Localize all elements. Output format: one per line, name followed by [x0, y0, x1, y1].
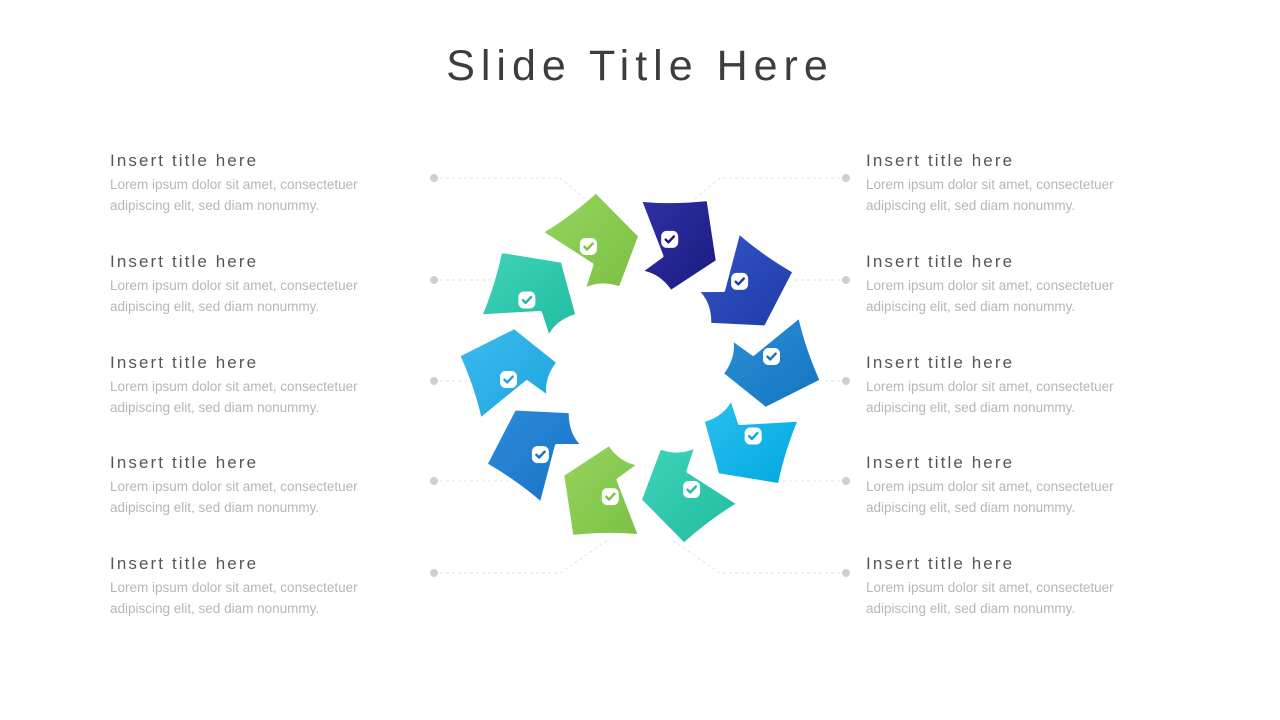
- text-block-right-4: Insert title hereLorem ipsum dolor sit a…: [866, 452, 1166, 518]
- text-block-body: Lorem ipsum dolor sit amet, consectetuer…: [866, 578, 1164, 619]
- connector-dot: [842, 276, 850, 284]
- text-block-title: Insert title here: [110, 553, 410, 574]
- text-block-body: Lorem ipsum dolor sit amet, consectetuer…: [110, 276, 408, 317]
- text-block-left-2: Insert title hereLorem ipsum dolor sit a…: [110, 251, 410, 317]
- text-block-body: Lorem ipsum dolor sit amet, consectetuer…: [866, 276, 1164, 317]
- connector-dot: [430, 477, 438, 485]
- cycle-segment-3[interactable]: [722, 316, 822, 409]
- text-block-right-5: Insert title hereLorem ipsum dolor sit a…: [866, 553, 1166, 619]
- text-block-right-1: Insert title hereLorem ipsum dolor sit a…: [866, 150, 1166, 216]
- text-block-title: Insert title here: [110, 352, 410, 373]
- cycle-segment-8[interactable]: [458, 327, 558, 420]
- text-block-title: Insert title here: [110, 150, 410, 171]
- text-block-title: Insert title here: [110, 452, 410, 473]
- cycle-arrow-shape: [640, 199, 718, 292]
- text-block-title: Insert title here: [866, 251, 1166, 272]
- text-block-right-2: Insert title hereLorem ipsum dolor sit a…: [866, 251, 1166, 317]
- text-block-title: Insert title here: [110, 251, 410, 272]
- text-block-body: Lorem ipsum dolor sit amet, consectetuer…: [110, 578, 408, 619]
- connector-dot: [842, 377, 850, 385]
- text-block-body: Lorem ipsum dolor sit amet, consectetuer…: [110, 377, 408, 418]
- cycle-segment-6[interactable]: [562, 444, 640, 537]
- slide-canvas: Slide Title Here Insert title hereLorem …: [0, 0, 1280, 720]
- connector-dot: [842, 477, 850, 485]
- connector-dot: [842, 174, 850, 182]
- text-block-body: Lorem ipsum dolor sit amet, consectetuer…: [110, 477, 408, 518]
- page-title: Slide Title Here: [0, 42, 1280, 91]
- text-block-body: Lorem ipsum dolor sit amet, consectetuer…: [110, 175, 408, 216]
- cycle-segment-4[interactable]: [703, 398, 800, 485]
- text-block-title: Insert title here: [866, 452, 1166, 473]
- cycle-arrow-shape: [562, 444, 640, 537]
- text-block-left-3: Insert title hereLorem ipsum dolor sit a…: [110, 352, 410, 418]
- cycle-arrow-wheel-diagram: [440, 168, 840, 568]
- connector-dot: [430, 377, 438, 385]
- text-block-right-3: Insert title hereLorem ipsum dolor sit a…: [866, 352, 1166, 418]
- text-block-body: Lorem ipsum dolor sit amet, consectetuer…: [866, 175, 1164, 216]
- text-block-left-5: Insert title hereLorem ipsum dolor sit a…: [110, 553, 410, 619]
- connector-dot: [430, 569, 438, 577]
- text-block-title: Insert title here: [866, 150, 1166, 171]
- connector-dot: [430, 276, 438, 284]
- text-block-body: Lorem ipsum dolor sit amet, consectetuer…: [866, 477, 1164, 518]
- text-block-body: Lorem ipsum dolor sit amet, consectetuer…: [866, 377, 1164, 418]
- cycle-segment-1[interactable]: [640, 199, 718, 292]
- text-block-title: Insert title here: [866, 553, 1166, 574]
- connector-dot: [430, 174, 438, 182]
- text-block-title: Insert title here: [866, 352, 1166, 373]
- text-block-left-1: Insert title hereLorem ipsum dolor sit a…: [110, 150, 410, 216]
- connector-dot: [842, 569, 850, 577]
- text-block-left-4: Insert title hereLorem ipsum dolor sit a…: [110, 452, 410, 518]
- cycle-segment-9[interactable]: [480, 251, 577, 338]
